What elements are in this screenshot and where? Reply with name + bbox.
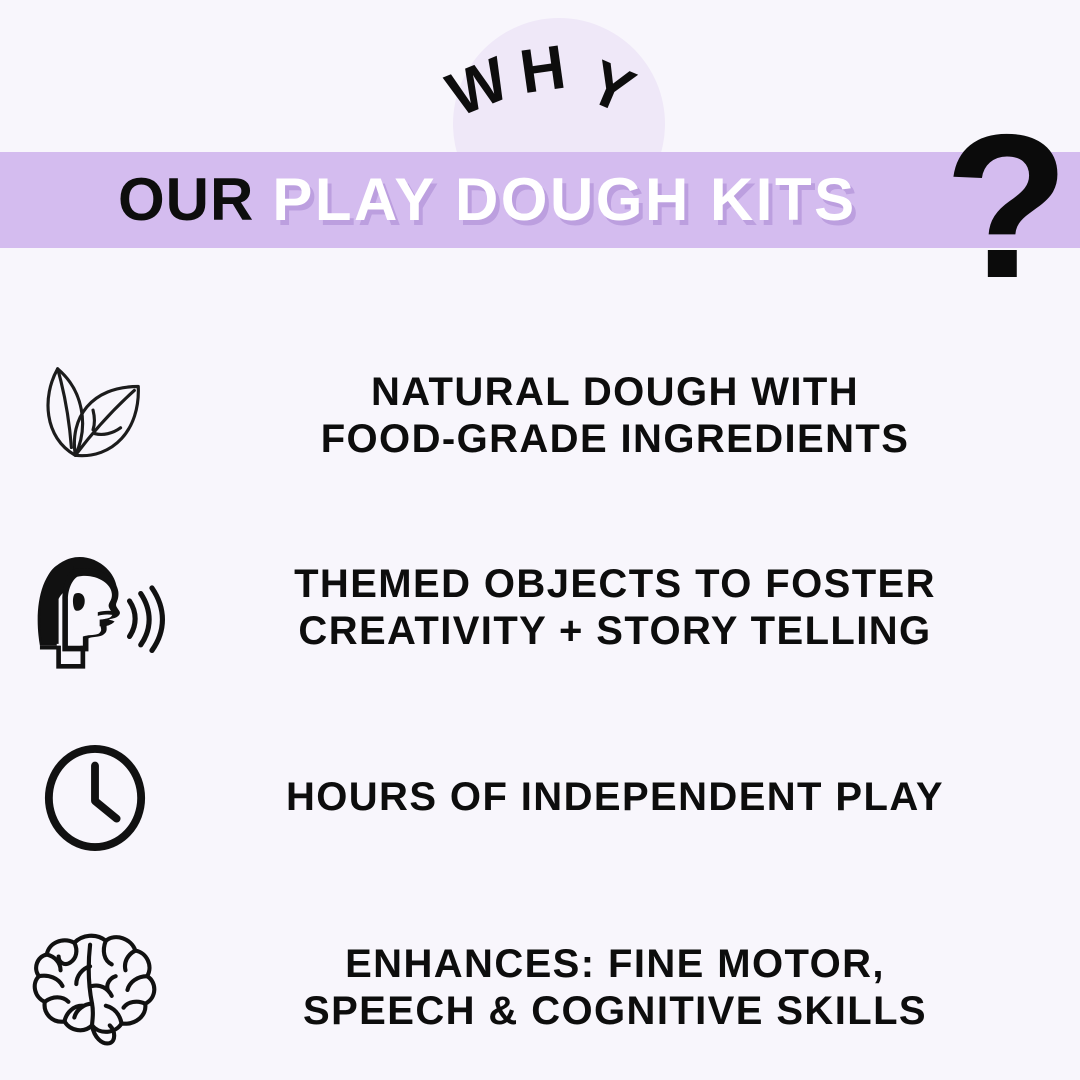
brain-icon xyxy=(0,927,190,1049)
feature-text: HOURS OF INDEPENDENT PLAY xyxy=(190,774,1080,821)
feature-text: ENHANCES: FINE MOTOR, SPEECH & COGNITIVE… xyxy=(190,941,1080,1035)
feature-text-line: THEMED OBJECTS TO FOSTER xyxy=(190,561,1040,608)
feature-text: THEMED OBJECTS TO FOSTER CREATIVITY + ST… xyxy=(190,561,1080,655)
feature-row: ENHANCES: FINE MOTOR, SPEECH & COGNITIVE… xyxy=(0,908,1080,1068)
feature-text-line: NATURAL DOUGH WITH xyxy=(190,369,1040,416)
banner-title: OUR PLAY DOUGH KITS xyxy=(0,152,1080,248)
feature-list: NATURAL DOUGH WITH FOOD-GRADE INGREDIENT… xyxy=(0,330,1080,1068)
feature-text-line: HOURS OF INDEPENDENT PLAY xyxy=(190,774,1040,821)
feature-row: HOURS OF INDEPENDENT PLAY xyxy=(0,718,1080,878)
feature-text-line: SPEECH & COGNITIVE SKILLS xyxy=(190,988,1040,1035)
feature-text: NATURAL DOUGH WITH FOOD-GRADE INGREDIENT… xyxy=(190,369,1080,463)
feature-row: NATURAL DOUGH WITH FOOD-GRADE INGREDIENT… xyxy=(0,336,1080,496)
feature-row: THEMED OBJECTS TO FOSTER CREATIVITY + ST… xyxy=(0,528,1080,688)
banner-prefix-text: OUR xyxy=(118,170,254,230)
feature-text-line: ENHANCES: FINE MOTOR, xyxy=(190,941,1040,988)
leaf-icon xyxy=(0,357,190,475)
feature-text-line: FOOD-GRADE INGREDIENTS xyxy=(190,416,1040,463)
clock-icon xyxy=(0,744,190,852)
banner-highlight-text: PLAY DOUGH KITS xyxy=(272,170,856,230)
feature-text-line: CREATIVITY + STORY TELLING xyxy=(190,608,1040,655)
question-mark: ? xyxy=(944,104,1069,309)
speaking-head-icon xyxy=(0,545,190,671)
header: WHY OUR PLAY DOUGH KITS ? xyxy=(0,0,1080,300)
